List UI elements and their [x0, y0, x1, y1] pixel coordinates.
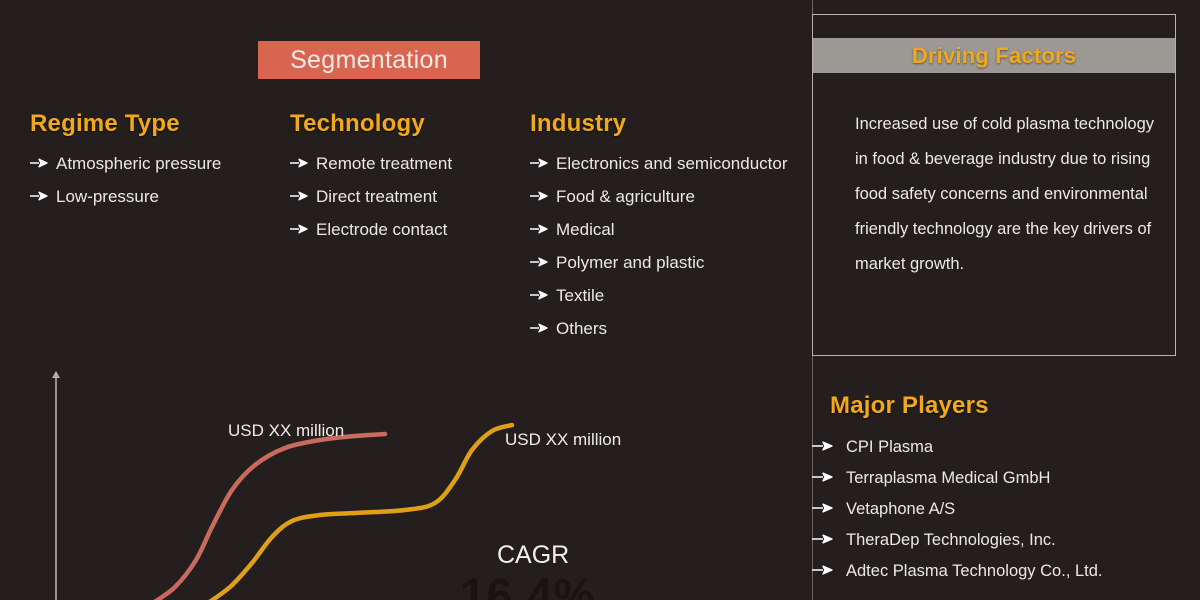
- list-item[interactable]: Remote treatment: [290, 154, 452, 174]
- technology-list: Remote treatment Direct treatment Electr…: [290, 154, 452, 240]
- y-axis-arrow-icon: [52, 371, 60, 378]
- arrow-right-icon: [812, 565, 834, 575]
- arrow-right-icon: [290, 191, 309, 201]
- list-item[interactable]: Adtec Plasma Technology Co., Ltd.: [812, 562, 1192, 581]
- list-item-label: Direct treatment: [316, 187, 437, 207]
- list-item-label: Electronics and semiconductor: [556, 154, 788, 174]
- arrow-right-icon: [290, 158, 309, 168]
- list-item-label: Low-pressure: [56, 187, 159, 207]
- regime-type-list: Atmospheric pressure Low-pressure: [30, 154, 221, 207]
- driving-factors-title-band: Driving Factors: [813, 38, 1175, 73]
- segmentation-column-regime-type: Regime Type Atmospheric pressure Low-pre…: [30, 110, 221, 220]
- column-title: Industry: [530, 110, 788, 138]
- list-item[interactable]: Terraplasma Medical GmbH: [812, 469, 1192, 488]
- list-item[interactable]: TheraDep Technologies, Inc.: [812, 531, 1192, 550]
- list-item[interactable]: Electrode contact: [290, 220, 452, 240]
- list-item[interactable]: Vetaphone A/S: [812, 500, 1192, 519]
- list-item[interactable]: Direct treatment: [290, 187, 452, 207]
- segmentation-banner-label: Segmentation: [290, 46, 448, 75]
- column-title: Technology: [290, 110, 452, 138]
- list-item[interactable]: Medical: [530, 220, 788, 240]
- major-players-list: CPI Plasma Terraplasma Medical GmbH Veta…: [812, 438, 1192, 581]
- list-item[interactable]: CPI Plasma: [812, 438, 1192, 457]
- segmentation-column-industry: Industry Electronics and semiconductor F…: [530, 110, 788, 352]
- driving-factors-panel: Driving Factors Increased use of cold pl…: [812, 14, 1176, 356]
- arrow-right-icon: [530, 323, 549, 333]
- list-item-label: Adtec Plasma Technology Co., Ltd.: [846, 562, 1103, 581]
- driving-factors-title: Driving Factors: [912, 43, 1076, 69]
- arrow-right-icon: [812, 534, 834, 544]
- list-item[interactable]: Food & agriculture: [530, 187, 788, 207]
- arrow-right-icon: [30, 191, 49, 201]
- major-players-title: Major Players: [830, 392, 1192, 420]
- list-item[interactable]: Low-pressure: [30, 187, 221, 207]
- segmentation-column-technology: Technology Remote treatment Direct treat…: [290, 110, 452, 253]
- cagr-value: 16.4%: [460, 568, 595, 600]
- segmentation-banner: Segmentation: [258, 41, 480, 79]
- infographic-root: Segmentation Regime Type Atmospheric pre…: [0, 0, 1200, 600]
- list-item-label: Textile: [556, 286, 604, 306]
- major-players-section: Major Players CPI Plasma Terraplasma Med…: [812, 392, 1192, 593]
- column-title: Regime Type: [30, 110, 221, 138]
- chart-canvas: [0, 355, 812, 600]
- list-item-label: Others: [556, 319, 607, 339]
- list-item[interactable]: Atmospheric pressure: [30, 154, 221, 174]
- growth-chart: [0, 355, 812, 600]
- list-item-label: Atmospheric pressure: [56, 154, 221, 174]
- list-item-label: Food & agriculture: [556, 187, 695, 207]
- list-item-label: Polymer and plastic: [556, 253, 704, 273]
- arrow-right-icon: [530, 257, 549, 267]
- list-item-label: Terraplasma Medical GmbH: [846, 469, 1050, 488]
- series-2-value-label: USD XX million: [505, 430, 621, 450]
- list-item-label: Vetaphone A/S: [846, 500, 955, 519]
- industry-list: Electronics and semiconductor Food & agr…: [530, 154, 788, 339]
- series-1-value-label: USD XX million: [228, 421, 344, 441]
- list-item-label: CPI Plasma: [846, 438, 933, 457]
- driving-factors-body: Increased use of cold plasma technology …: [855, 107, 1157, 282]
- arrow-right-icon: [812, 441, 834, 451]
- arrow-right-icon: [530, 290, 549, 300]
- list-item[interactable]: Textile: [530, 286, 788, 306]
- list-item[interactable]: Polymer and plastic: [530, 253, 788, 273]
- chart-line-series-1: [150, 434, 385, 600]
- arrow-right-icon: [530, 191, 549, 201]
- list-item-label: Remote treatment: [316, 154, 452, 174]
- arrow-right-icon: [812, 503, 834, 513]
- arrow-right-icon: [290, 224, 309, 234]
- arrow-right-icon: [530, 158, 549, 168]
- list-item-label: TheraDep Technologies, Inc.: [846, 531, 1056, 550]
- arrow-right-icon: [30, 158, 49, 168]
- list-item[interactable]: Electronics and semiconductor: [530, 154, 788, 174]
- cagr-label: CAGR: [497, 541, 569, 570]
- list-item[interactable]: Others: [530, 319, 788, 339]
- list-item-label: Electrode contact: [316, 220, 447, 240]
- arrow-right-icon: [530, 224, 549, 234]
- list-item-label: Medical: [556, 220, 615, 240]
- arrow-right-icon: [812, 472, 834, 482]
